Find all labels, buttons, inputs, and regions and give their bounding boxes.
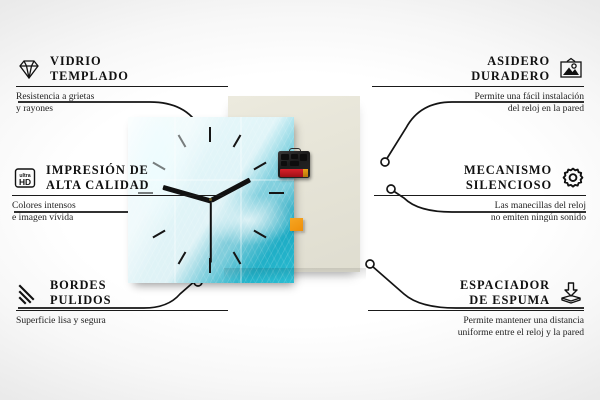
feature-asidero-duradero[interactable]: ASIDERO DURADERO Permite una fácil insta…: [372, 54, 584, 114]
connector-dot-espaciador: [366, 260, 374, 268]
wall-hanger-icon: [558, 57, 584, 81]
feature-divider: [12, 195, 224, 196]
feature-desc-line1: Permite mantener una distancia: [463, 315, 584, 326]
feature-desc-line1: Las manecillas del reloj: [495, 200, 586, 211]
clock-tick: [269, 192, 284, 194]
scene-floor-shadow: [224, 268, 366, 280]
feature-title-line1: ASIDERO: [487, 54, 550, 68]
foam-spacer-icon: [558, 281, 584, 305]
feature-divider: [16, 86, 228, 87]
feature-espaciador-espuma[interactable]: ESPACIADOR DE ESPUMA Permite mantener un…: [368, 278, 584, 338]
feature-title-line2: ALTA CALIDAD: [46, 178, 149, 192]
feature-desc-line1: Resistencia a grietas: [16, 91, 94, 102]
svg-text:HD: HD: [19, 177, 31, 187]
feature-vidrio-templado[interactable]: VIDRIO TEMPLADO Resistencia a grietas y …: [16, 54, 228, 114]
feature-desc-line2: y rayones: [16, 103, 53, 114]
feature-title-line2: PULIDOS: [50, 293, 111, 307]
polished-edges-icon: [16, 281, 42, 305]
feature-desc-line1: Colores intensos: [12, 200, 76, 211]
battery-terminal: [303, 169, 308, 177]
feature-impresion-alta-calidad[interactable]: ultra HD IMPRESIÓN DE ALTA CALIDAD Color…: [12, 163, 224, 223]
feature-desc-line2: del reloj en la pared: [508, 103, 584, 114]
feature-title-line2: DE ESPUMA: [469, 293, 550, 307]
feature-desc-line1: Permite una fácil instalación: [475, 91, 585, 102]
feature-divider: [372, 86, 584, 87]
feature-divider: [374, 195, 586, 196]
foam-spacer: [290, 218, 303, 231]
feature-title-line1: ESPACIADOR: [460, 278, 550, 292]
feature-desc-line2: no emiten ningún sonido: [491, 212, 586, 223]
feature-title-line2: DURADERO: [471, 69, 550, 83]
ultra-hd-icon: ultra HD: [12, 166, 38, 190]
gear-icon: [560, 166, 586, 190]
feature-title-line2: TEMPLADO: [50, 69, 129, 83]
feature-title-line1: BORDES: [50, 278, 106, 292]
feature-divider: [368, 310, 584, 311]
feature-title-line2: SILENCIOSO: [466, 178, 552, 192]
mechanism-battery: [280, 169, 308, 177]
clock-mechanism: [278, 148, 310, 178]
clock-tick: [209, 127, 211, 142]
feature-title-line1: IMPRESIÓN DE: [46, 163, 149, 177]
feature-divider: [16, 310, 228, 311]
feature-title-line1: VIDRIO: [50, 54, 102, 68]
mechanism-body: [278, 151, 310, 178]
feature-desc-line2: e imagen vívida: [12, 212, 73, 223]
feature-title-line1: MECANISMO: [464, 163, 552, 177]
feature-desc-line2: uniforme entre el reloj y la pared: [458, 327, 584, 338]
diamond-icon: [16, 57, 42, 81]
feature-bordes-pulidos[interactable]: BORDES PULIDOS Superficie lisa y segura: [16, 278, 228, 327]
feature-desc-line1: Superficie lisa y segura: [16, 315, 106, 326]
infographic-canvas: VIDRIO TEMPLADO Resistencia a grietas y …: [0, 0, 600, 400]
feature-mecanismo-silencioso[interactable]: MECANISMO SILENCIOSO Las manecillas del …: [374, 163, 586, 223]
